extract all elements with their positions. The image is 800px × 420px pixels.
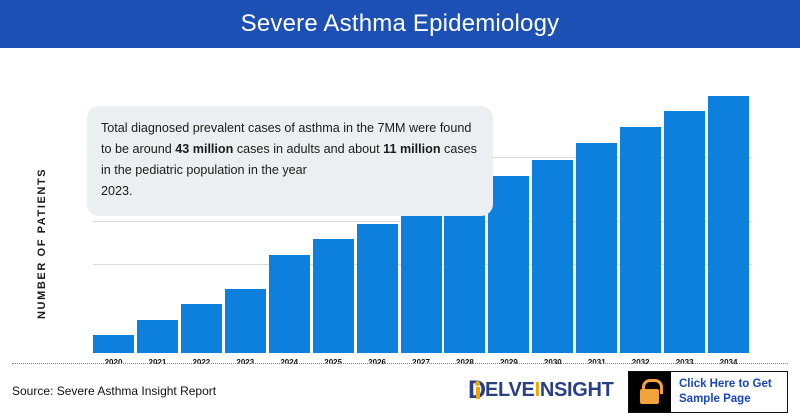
chart-container: NUMBER OF PATIENTS 202020212022202320242…	[0, 48, 800, 363]
padlock-open-icon	[629, 372, 671, 412]
callout-adult-figure: 43 million	[175, 142, 233, 156]
sample-page-cta-button[interactable]: Click Here to Get Sample Page	[628, 371, 788, 413]
callout-line-4: 2023.	[101, 184, 133, 198]
y-axis-label: NUMBER OF PATIENTS	[34, 153, 50, 333]
page-footer: Source: Severe Asthma Insight Report D E…	[0, 364, 800, 420]
bar-fill	[225, 289, 266, 353]
callout-line-3: in the pediatric population in the year	[101, 163, 307, 177]
bar-fill	[93, 335, 134, 353]
bar-fill	[181, 304, 222, 353]
page-title: Severe Asthma Epidemiology	[241, 10, 560, 38]
bar-fill	[401, 208, 442, 353]
bar-fill	[137, 320, 178, 353]
bar-fill	[488, 176, 529, 353]
cta-label: Click Here to Get Sample Page	[671, 377, 787, 407]
logo-word-nsight: NSIGHT	[540, 379, 614, 401]
callout-pediatric-figure: 11 million	[383, 142, 440, 156]
logo-mark-icon: D	[468, 378, 484, 402]
callout-box: Total diagnosed prevalent cases of asthm…	[87, 106, 493, 216]
logo-person-body-icon	[476, 387, 480, 399]
callout-line-2c: cases in adults and about	[233, 142, 383, 156]
bar-fill	[269, 255, 310, 353]
bar-fill	[620, 127, 661, 353]
cta-line-2: Sample Page	[679, 393, 751, 405]
delveinsight-logo: D ELVEINSIGHT	[468, 377, 614, 403]
bar-fill	[708, 96, 749, 353]
callout-line-2e: cases	[441, 142, 477, 156]
cta-line-1: Click Here to Get	[679, 378, 772, 390]
bar-fill	[357, 224, 398, 353]
callout-line-1: Total diagnosed prevalent cases of asthm…	[101, 121, 471, 135]
callout-line-2a: to be around	[101, 142, 175, 156]
logo-wordmark: ELVEINSIGHT	[485, 379, 614, 402]
page-header: Severe Asthma Epidemiology	[0, 0, 800, 48]
bar-fill	[313, 239, 354, 353]
logo-person-head-icon	[475, 381, 480, 386]
bar-fill	[664, 111, 705, 353]
logo-word-elve: ELVE	[485, 379, 535, 401]
bar-fill	[576, 143, 617, 353]
bar-fill	[532, 160, 573, 353]
callout-text: Total diagnosed prevalent cases of asthm…	[101, 118, 479, 202]
source-text: Source: Severe Asthma Insight Report	[12, 384, 216, 398]
